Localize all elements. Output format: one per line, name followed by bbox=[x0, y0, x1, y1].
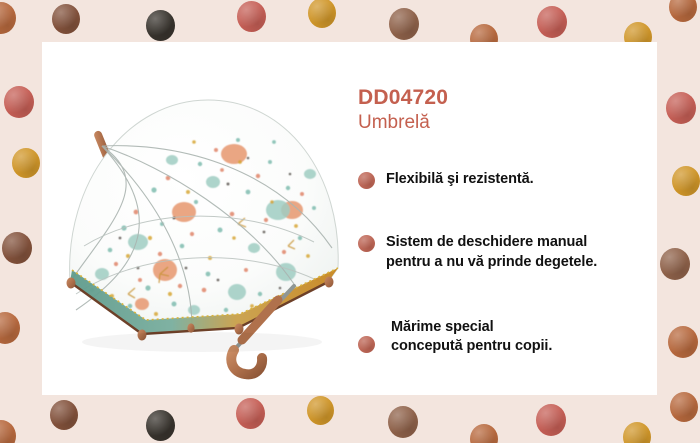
decor-dot bbox=[2, 232, 32, 264]
feature-text: Sistem de deschidere manual pentru a nu … bbox=[386, 233, 631, 271]
decor-dot bbox=[236, 398, 265, 429]
decor-dot bbox=[12, 148, 40, 178]
decor-dot bbox=[237, 1, 266, 32]
feature-line: concepută pentru copii. bbox=[391, 338, 552, 354]
feature-item: Mărime special concepută pentru copii. bbox=[358, 318, 658, 356]
bullet-icon bbox=[358, 172, 375, 189]
feature-item: Sistem de deschidere manual pentru a nu … bbox=[358, 233, 658, 271]
umbrella-illustration bbox=[42, 42, 372, 395]
decor-dot bbox=[307, 396, 334, 425]
decor-dot bbox=[0, 312, 20, 344]
bullet-icon bbox=[358, 235, 375, 252]
decor-dot bbox=[389, 8, 419, 40]
feature-line: Mărime special bbox=[391, 319, 494, 335]
decor-dot bbox=[470, 424, 498, 443]
feature-item: Flexibilă şi rezistentă. bbox=[358, 170, 658, 189]
decor-dot bbox=[52, 4, 80, 34]
decor-dot bbox=[623, 422, 651, 443]
feature-text: Flexibilă şi rezistentă. bbox=[386, 170, 534, 189]
product-image bbox=[42, 42, 372, 395]
feature-line: pentru a nu vă prinde degetele. bbox=[386, 254, 597, 270]
product-name: Umbrelă bbox=[358, 112, 658, 135]
decor-dot bbox=[537, 6, 567, 38]
decor-dot bbox=[388, 406, 418, 438]
decor-dot bbox=[146, 410, 175, 441]
decor-dot bbox=[308, 0, 336, 28]
feature-line: Sistem de deschidere manual bbox=[386, 234, 587, 250]
bullet-icon bbox=[358, 336, 375, 353]
decor-dot bbox=[0, 420, 16, 443]
decor-dot bbox=[669, 0, 697, 22]
decor-dot bbox=[660, 248, 690, 280]
feature-line: Flexibilă şi rezistentă. bbox=[386, 171, 534, 187]
product-info: DD04720 Umbrelă Flexibilă şi rezistentă.… bbox=[358, 86, 658, 356]
decor-dot bbox=[668, 326, 698, 358]
product-slide: DD04720 Umbrelă Flexibilă şi rezistentă.… bbox=[0, 0, 700, 443]
feature-text: Mărime special concepută pentru copii. bbox=[386, 318, 552, 356]
decor-dot bbox=[536, 404, 566, 436]
decor-dot bbox=[672, 166, 700, 196]
decor-dot bbox=[670, 392, 698, 422]
product-sku: DD04720 bbox=[358, 86, 658, 110]
decor-dot bbox=[666, 92, 696, 124]
decor-dot bbox=[4, 86, 34, 118]
content-card: DD04720 Umbrelă Flexibilă şi rezistentă.… bbox=[42, 42, 657, 395]
decor-dot bbox=[146, 10, 175, 41]
decor-dot bbox=[50, 400, 78, 430]
decor-dot bbox=[0, 2, 16, 34]
